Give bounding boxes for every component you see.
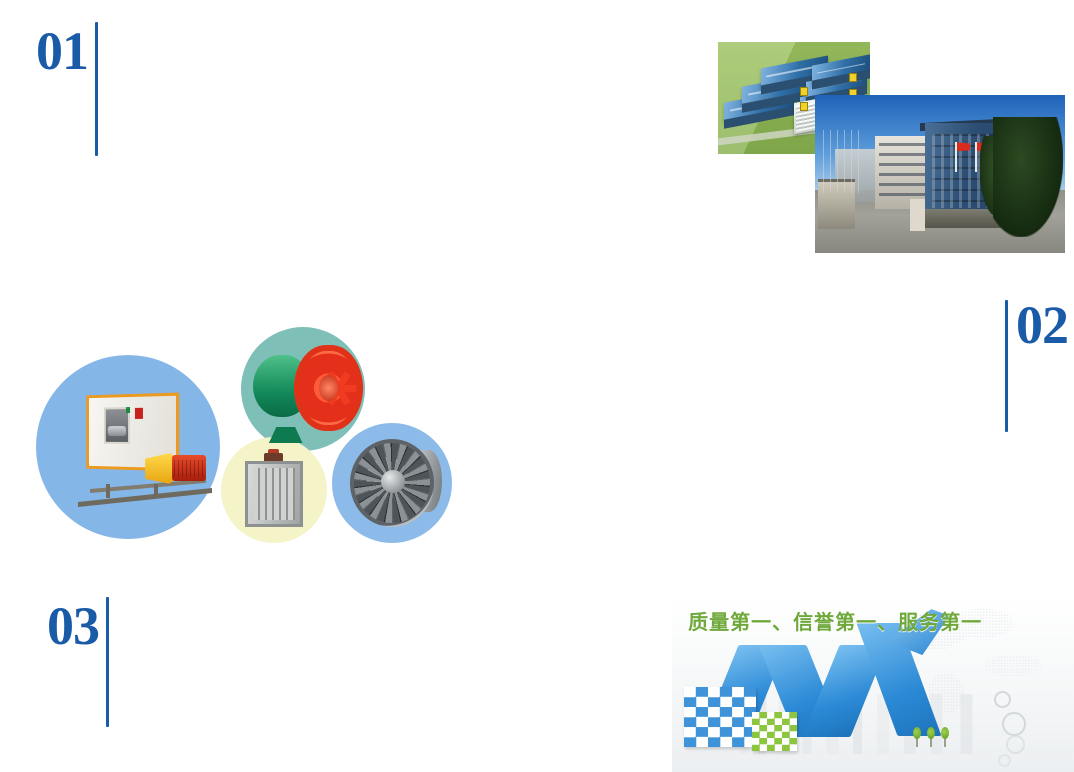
fan-control-panel: [135, 408, 143, 419]
green-cube-cluster: [752, 712, 796, 751]
axial-fan-mount: [269, 427, 303, 443]
office-building-photo: [815, 95, 1065, 253]
fan-label-tag: [126, 408, 130, 414]
damper-frame: [245, 461, 304, 528]
photo-poles: [823, 130, 863, 193]
section-rule-03: [106, 597, 109, 727]
photo-tree: [993, 117, 1063, 237]
red-flag: [975, 142, 977, 172]
product-metal-axial-fan: [344, 435, 444, 531]
quality-slogan-text: 质量第一、信誉第一、服务第一: [688, 606, 982, 635]
section-marker-01: 01: [36, 22, 98, 156]
product-fire-damper: [242, 453, 306, 529]
decorative-circle: [1006, 735, 1025, 754]
decorative-circle: [994, 691, 1011, 708]
decorative-circle: [1002, 712, 1026, 736]
page-canvas: 01 02 03: [0, 0, 1074, 772]
decorative-circle: [998, 754, 1011, 767]
section-number-03: 03: [47, 599, 99, 653]
product-axial-flow-fan: [251, 339, 363, 439]
render-marker-tag: [849, 73, 857, 82]
fan-base-leg: [154, 484, 158, 498]
section-rule-01: [95, 22, 98, 156]
render-marker-tag: [800, 102, 808, 111]
fan-base-leg: [106, 484, 110, 498]
tree-icon: [927, 727, 935, 747]
section-number-01: 01: [36, 24, 88, 78]
product-showcase: [36, 325, 426, 550]
photo-side-building: [875, 136, 930, 209]
fan-motor: [172, 455, 205, 481]
tree-icon: [941, 727, 949, 747]
red-flag: [955, 142, 957, 172]
section-number-02: 02: [1016, 298, 1068, 352]
section-rule-02: [1005, 300, 1008, 432]
product-cabinet-centrifugal-fan: [60, 387, 212, 505]
blue-cube-cluster: [684, 687, 756, 747]
photo-gate-pillar: [910, 199, 925, 231]
metal-fan-hub: [381, 470, 405, 493]
damper-louvers: [253, 468, 295, 519]
tree-icon: [913, 727, 921, 747]
section-marker-02: 02: [1005, 300, 1068, 432]
render-marker-tag: [800, 87, 808, 96]
section-marker-03: 03: [47, 597, 109, 727]
growth-chart-banner: 质量第一、信誉第一、服务第一: [672, 595, 1074, 772]
